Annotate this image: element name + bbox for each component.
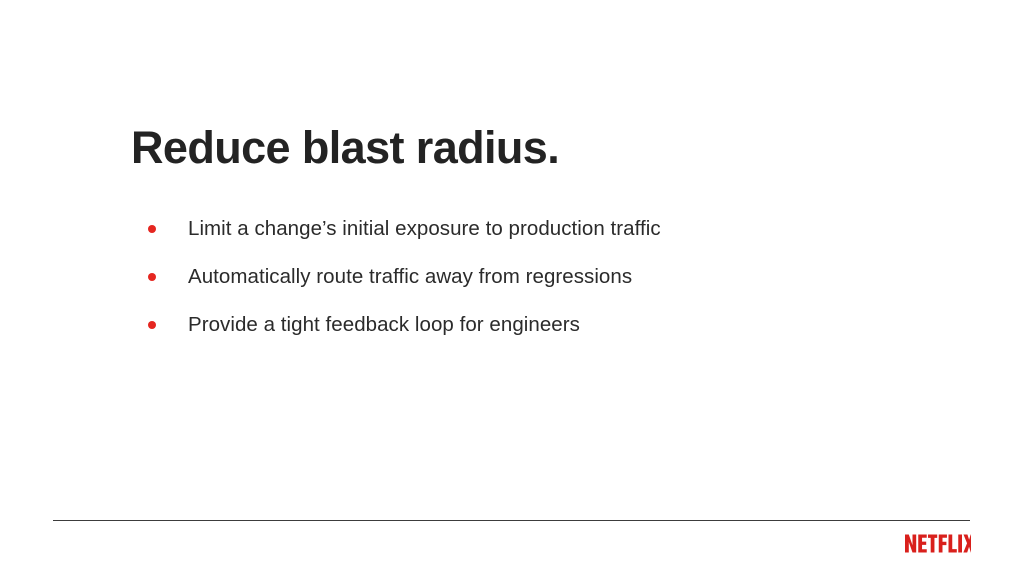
list-item-label: Provide a tight feedback loop for engine… [188,312,580,338]
page-title: Reduce blast radius. [131,122,931,174]
list-item: Automatically route traffic away from re… [140,253,960,301]
list-item-label: Automatically route traffic away from re… [188,264,632,290]
slide-canvas: Reduce blast radius. Limit a change’s in… [0,0,1024,576]
bullet-dot-icon [148,321,156,329]
list-item-label: Limit a change’s initial exposure to pro… [188,216,661,242]
horizontal-rule-icon [53,520,970,521]
list-item: Limit a change’s initial exposure to pro… [140,205,960,253]
netflix-wordmark-icon [905,534,971,553]
list-item: Provide a tight feedback loop for engine… [140,301,960,349]
bullet-dot-icon [148,225,156,233]
bullet-list: Limit a change’s initial exposure to pro… [140,205,960,349]
bullet-dot-icon [148,273,156,281]
